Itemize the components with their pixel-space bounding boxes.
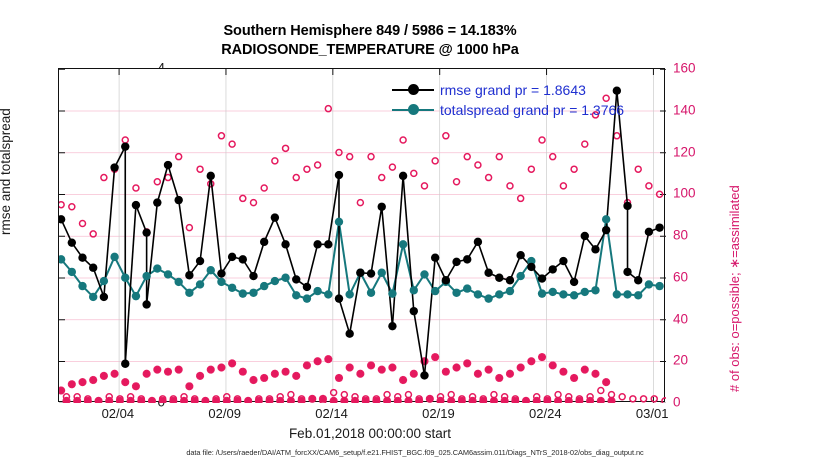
title-line-1: Southern Hemisphere 849 / 5986 = 14.183% xyxy=(0,22,740,41)
legend-item-totalspread[interactable]: totalspread grand pr = 1.3766 xyxy=(392,100,652,120)
y-axis-right-label: # of obs: o=possible; ∗=assimilated xyxy=(727,185,743,392)
y-tick-right-140: 140 xyxy=(673,102,696,117)
y-tick-right-20: 20 xyxy=(673,353,688,368)
x-tick-03-01: 03/01 xyxy=(636,406,669,421)
y-tick-right-120: 120 xyxy=(673,144,696,159)
legend-marker-totalspread xyxy=(408,104,419,115)
y-tick-right-80: 80 xyxy=(673,228,688,243)
legend-label-totalspread: totalspread grand pr = 1.3766 xyxy=(440,100,624,120)
chart-legend: rmse grand pr = 1.8643 totalspread grand… xyxy=(392,80,652,120)
x-tick-02-09: 02/09 xyxy=(208,406,241,421)
y-tick-right-100: 100 xyxy=(673,186,696,201)
x-axis-label: Feb.01,2018 00:00:00 start xyxy=(0,426,740,441)
x-tick-02-24: 02/24 xyxy=(529,406,562,421)
y-axis-left-label: rmse and totalspread xyxy=(0,108,13,235)
y-tick-right-60: 60 xyxy=(673,269,688,284)
chart-title: Southern Hemisphere 849 / 5986 = 14.183%… xyxy=(0,22,740,60)
y-tick-right-40: 40 xyxy=(673,311,688,326)
legend-marker-rmse xyxy=(408,84,419,95)
y-tick-right-160: 160 xyxy=(673,61,696,76)
chart-page: Southern Hemisphere 849 / 5986 = 14.183%… xyxy=(0,0,830,470)
title-line-2: RADIOSONDE_TEMPERATURE @ 1000 hPa xyxy=(0,41,740,60)
y-tick-right-0: 0 xyxy=(673,395,681,410)
x-tick-02-19: 02/19 xyxy=(422,406,455,421)
data-file-footer: data file: /Users/raeder/DAI/ATM_forcXX/… xyxy=(0,448,830,457)
x-tick-02-04: 02/04 xyxy=(102,406,135,421)
legend-item-rmse[interactable]: rmse grand pr = 1.8643 xyxy=(392,80,652,100)
legend-label-rmse: rmse grand pr = 1.8643 xyxy=(440,80,586,100)
x-tick-02-14: 02/14 xyxy=(315,406,348,421)
